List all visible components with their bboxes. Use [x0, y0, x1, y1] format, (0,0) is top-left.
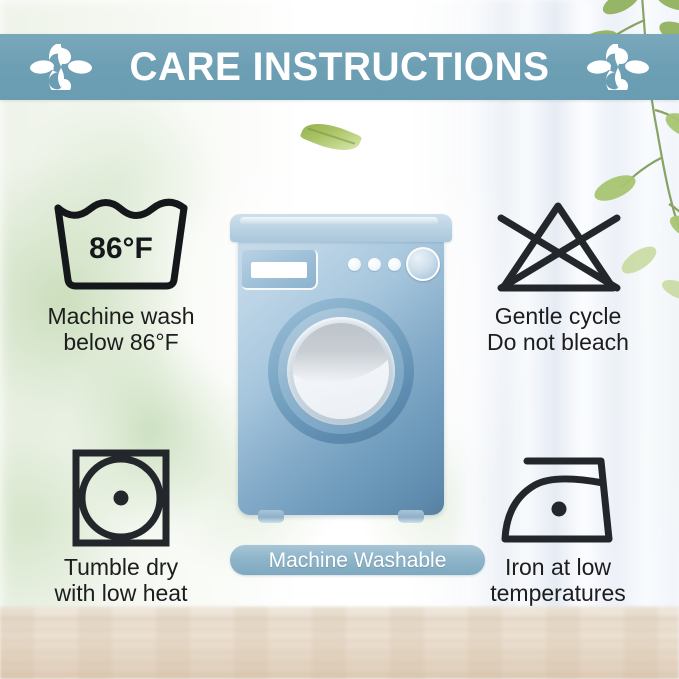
care-symbol-tumble-dry: Tumble dry with low heat [6, 447, 236, 607]
care-instructions-infographic: CARE INSTRUCTIONS 86°F Machine wash belo… [0, 0, 679, 679]
care-symbol-machine-wash: 86°F Machine wash below 86°F [6, 196, 236, 356]
washing-machine-illustration [230, 214, 452, 524]
wooden-table-grain [0, 607, 679, 679]
door-glass-shading [293, 323, 389, 383]
page-title: CARE INSTRUCTIONS [130, 47, 550, 87]
crossed-triangle-icon [483, 196, 633, 298]
care-label-line1: Tumble dry [55, 555, 188, 581]
machine-foot-left [258, 510, 284, 523]
fleur-de-lis-icon [30, 44, 92, 90]
tumble-dry-icon [46, 447, 196, 549]
care-symbol-iron: Iron at low temperatures [443, 447, 673, 607]
control-button-1 [348, 258, 361, 271]
fleur-de-lis-icon [587, 44, 649, 90]
iron-icon [483, 447, 633, 549]
header-banner: CARE INSTRUCTIONS [0, 34, 679, 100]
badge-label: Machine Washable [269, 550, 447, 571]
door-glass [293, 323, 389, 419]
control-button-2 [368, 258, 381, 271]
care-label-line2: below 86°F [47, 330, 194, 356]
wash-basin-icon: 86°F [46, 196, 196, 298]
care-label-iron: Iron at low temperatures [490, 555, 626, 607]
care-label-line2: temperatures [490, 581, 626, 607]
machine-foot-right [398, 510, 424, 523]
care-symbol-gentle-cycle-no-bleach: Gentle cycle Do not bleach [443, 196, 673, 356]
control-button-3 [388, 258, 401, 271]
care-label-line1: Gentle cycle [487, 304, 629, 330]
machine-top-lid [230, 214, 452, 242]
care-label-line1: Machine wash [47, 304, 194, 330]
care-label-tumble-dry: Tumble dry with low heat [55, 555, 188, 607]
care-label-line2: with low heat [55, 581, 188, 607]
detergent-drawer [242, 250, 318, 290]
machine-washable-badge: Machine Washable [230, 545, 485, 575]
care-label-line1: Iron at low [490, 555, 626, 581]
care-label-line2: Do not bleach [487, 330, 629, 356]
machine-top-highlight [240, 217, 438, 225]
care-label-gentle-cycle: Gentle cycle Do not bleach [487, 304, 629, 356]
wash-temperature-value: 86°F [89, 232, 153, 265]
control-dial [406, 247, 440, 281]
detergent-drawer-slot [251, 262, 307, 278]
care-label-machine-wash: Machine wash below 86°F [47, 304, 194, 356]
